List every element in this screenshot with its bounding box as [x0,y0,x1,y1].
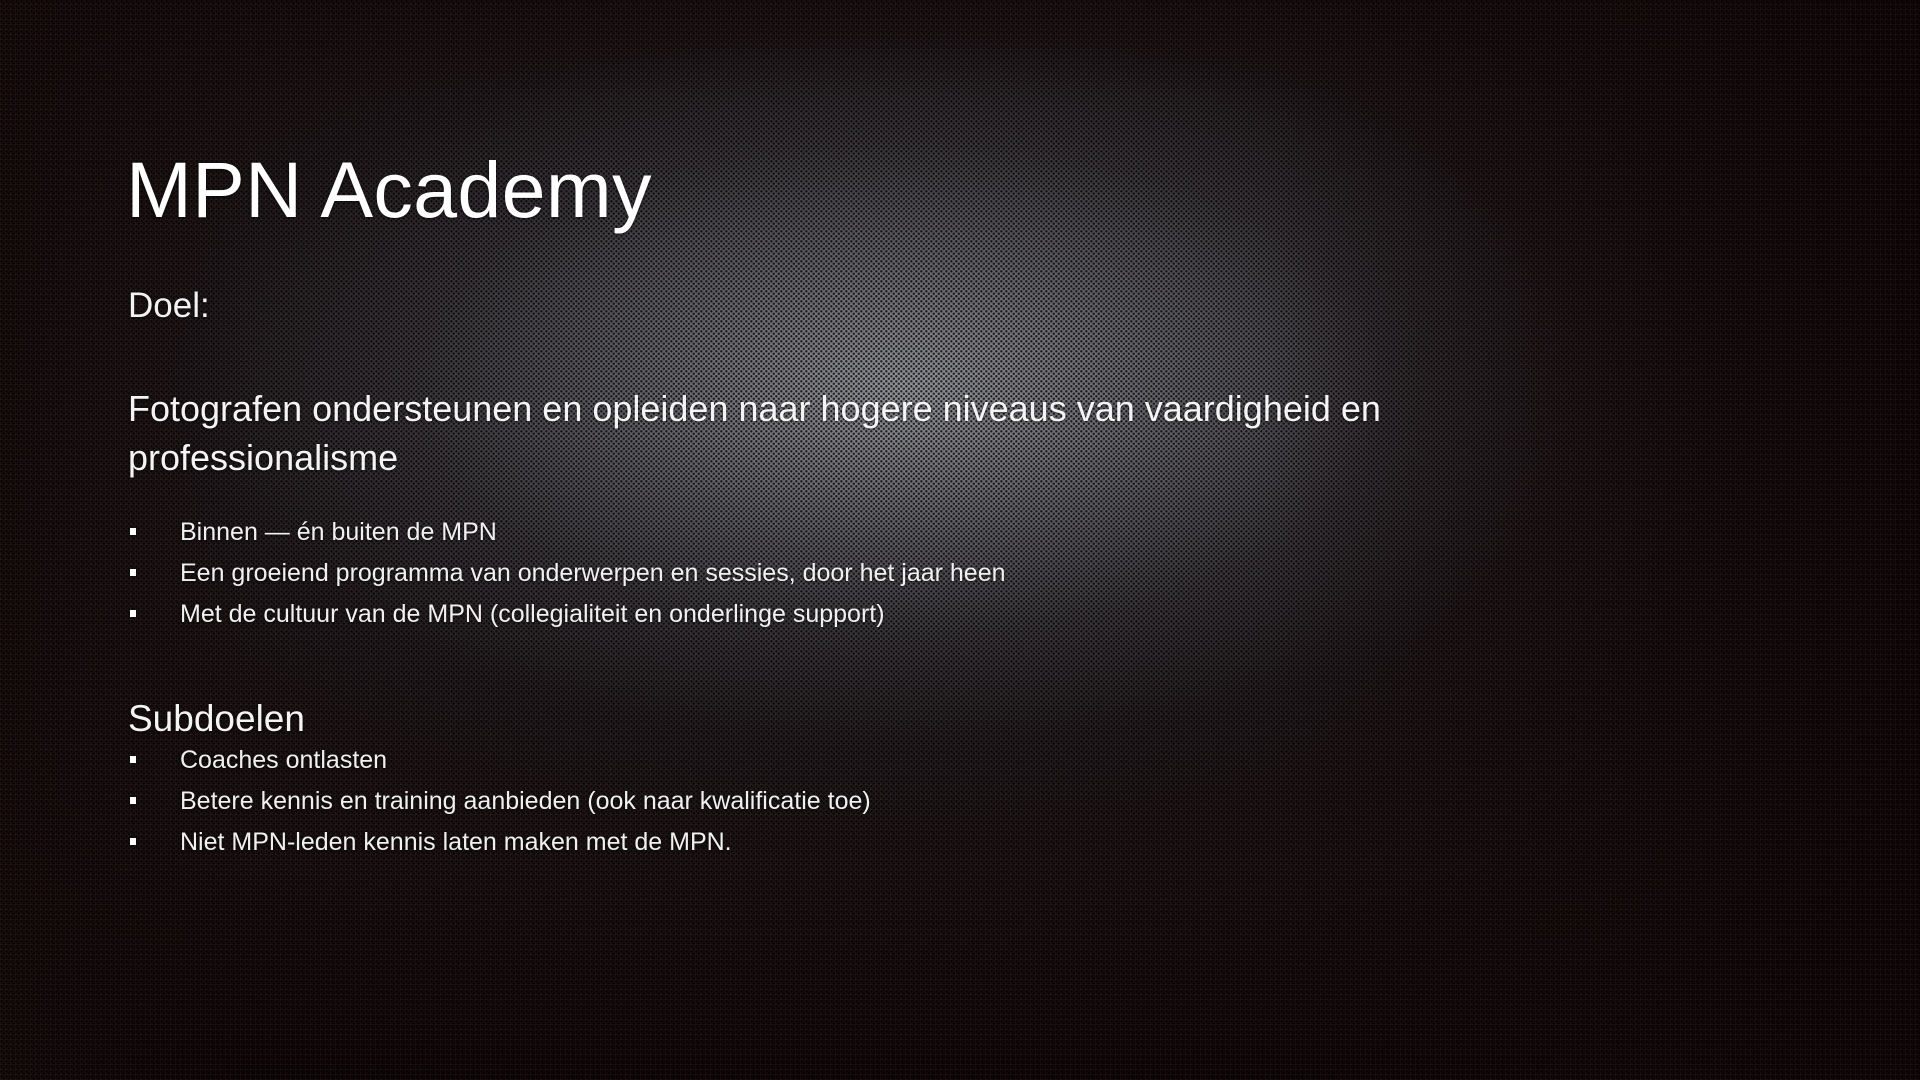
presentation-slide: MPN Academy Doel: Fotografen ondersteune… [0,0,1920,1080]
bullet-square-icon [130,797,136,804]
list-item-label: Niet MPN-leden kennis laten maken met de… [180,828,732,856]
list-item: Binnen — én buiten de MPN [128,515,1458,549]
list-item: Met de cultuur van de MPN (collegialitei… [128,597,1458,631]
subgoals-heading: Subdoelen [128,697,1458,741]
slide-title: MPN Academy [126,149,652,232]
list-item-label: Met de cultuur van de MPN (collegialitei… [180,600,885,628]
bullet-square-icon [130,756,136,763]
bullet-square-icon [130,838,136,845]
bullet-square-icon [130,569,136,576]
list-item: Coaches ontlasten [128,743,1458,777]
subgoals-bullet-list: Coaches ontlasten Betere kennis en train… [128,743,1458,859]
goal-paragraph: Fotografen ondersteunen en opleiden naar… [128,385,1418,483]
list-item-label: Coaches ontlasten [180,746,387,774]
list-item-label: Betere kennis en training aanbieden (ook… [180,787,871,815]
list-item: Een groeiend programma van onderwerpen e… [128,556,1458,590]
goal-bullet-list: Binnen — én buiten de MPN Een groeiend p… [128,515,1458,631]
list-item-label: Binnen — én buiten de MPN [180,518,497,546]
goal-label: Doel: [128,285,1458,327]
slide-content: MPN Academy Doel: Fotografen ondersteune… [0,0,1920,1080]
list-item: Niet MPN-leden kennis laten maken met de… [128,825,1458,859]
bullet-square-icon [130,610,136,617]
list-item: Betere kennis en training aanbieden (ook… [128,784,1458,818]
list-item-label: Een groeiend programma van onderwerpen e… [180,559,1006,587]
bullet-square-icon [130,528,136,535]
slide-body: Doel: Fotografen ondersteunen en opleide… [128,285,1458,866]
